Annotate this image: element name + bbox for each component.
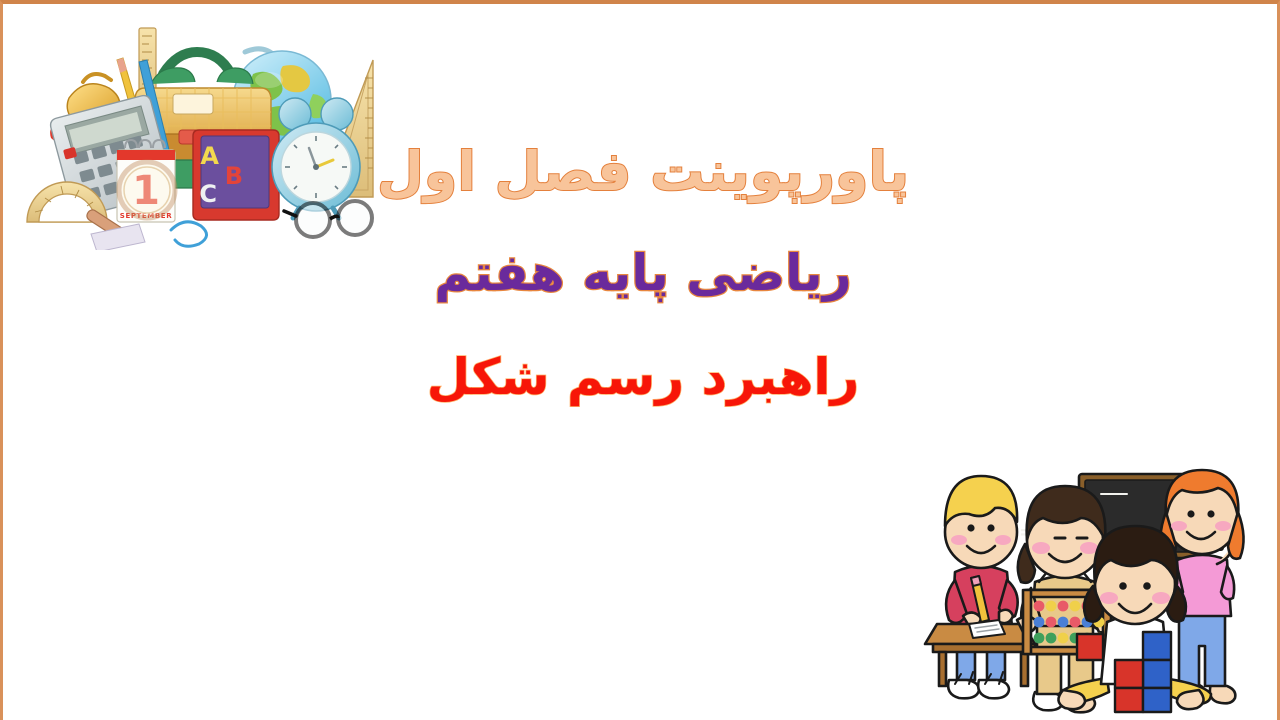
svg-text:B: B	[225, 162, 243, 190]
title-block: پاورپوینت فصل اول ریاضی پایه هفتم راهبرد…	[333, 144, 953, 404]
abc-book-icon: A B C	[193, 130, 279, 220]
kid-blonde-boy	[945, 476, 1018, 698]
title-line-3: راهبرد رسم شکل	[333, 351, 953, 404]
children-classroom-illustration: 9)27 6 × 8 =	[911, 452, 1271, 720]
paperclip-icon	[171, 222, 207, 246]
notebook-icon	[91, 224, 145, 250]
svg-text:A: A	[200, 142, 219, 170]
svg-text:C: C	[199, 180, 217, 208]
title-line-1: پاورپوینت فصل اول	[333, 144, 953, 201]
title-line-2: ریاضی پایه هفتم	[333, 247, 953, 300]
slide-canvas: 1 SEPTEMBER A B C	[0, 0, 1280, 720]
desk	[925, 620, 1035, 686]
